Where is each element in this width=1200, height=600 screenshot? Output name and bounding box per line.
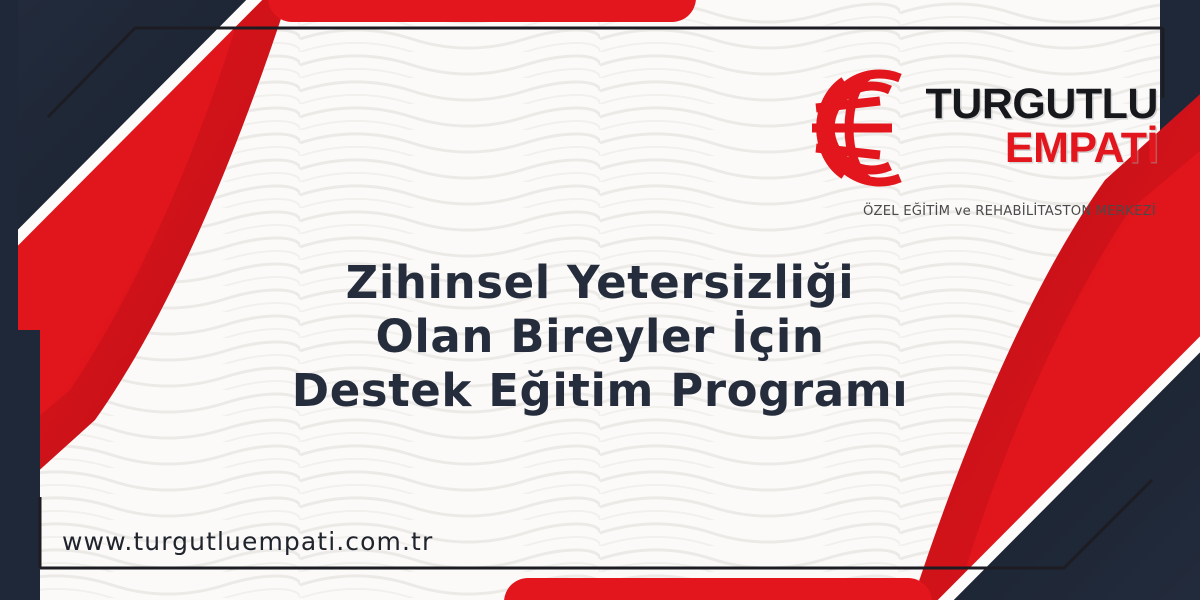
headline-line-2: Olan Bireyler İçin [24, 310, 1176, 364]
headline-line-3: Destek Eğitim Programı [24, 364, 1176, 418]
logo-main: TURGUTLU EMPATİ [804, 62, 1158, 194]
logo-block: TURGUTLU EMPATİ ÖZEL EĞİTİM ve REHABİLİT… [828, 62, 1158, 219]
promotional-banner: TURGUTLU EMPATİ ÖZEL EĞİTİM ve REHABİLİT… [0, 0, 1200, 600]
logo-subtitle: ÖZEL EĞİTİM ve REHABİLİTASTON MERKEZİ [863, 204, 1156, 219]
page-title: Zihinsel Yetersizliği Olan Bireyler İçin… [0, 256, 1200, 418]
logo-title-turgutlu: TURGUTLU [926, 83, 1158, 126]
website-url[interactable]: www.turgutluempati.com.tr [62, 527, 433, 556]
logo-wordmark: TURGUTLU EMPATİ [926, 83, 1158, 174]
logo-title-empati: EMPATİ [1005, 127, 1158, 170]
headline-line-1: Zihinsel Yetersizliği [24, 256, 1176, 310]
globe-icon [804, 64, 932, 192]
